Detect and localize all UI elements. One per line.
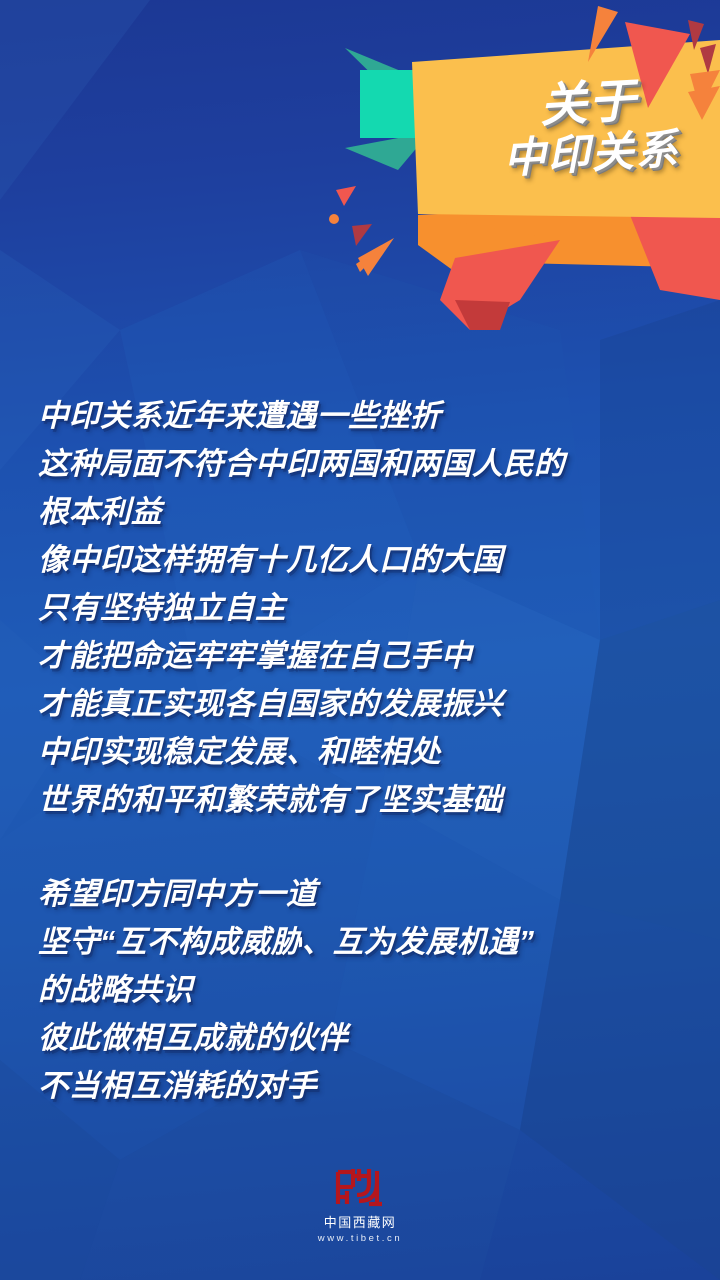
copy-line: 才能把命运牢牢掌握在自己手中	[38, 632, 698, 680]
copy-line: 才能真正实现各自国家的发展振兴	[38, 680, 698, 728]
copy-line: 中印关系近年来遭遇一些挫折	[38, 392, 698, 440]
tibet-seal-logo-icon	[333, 1167, 387, 1209]
confetti-orange-dot	[329, 214, 339, 224]
copy-line: 像中印这样拥有十几亿人口的大国	[38, 536, 698, 584]
copy-line: 这种局面不符合中印两国和两国人民的	[38, 440, 698, 488]
copy-line: 不当相互消耗的对手	[38, 1062, 698, 1110]
banner-yellow-panel	[412, 40, 720, 218]
footer-site-name: 中国西藏网	[0, 1212, 720, 1231]
footer-site-url: www.tibet.cn	[0, 1233, 720, 1244]
copy-line: 世界的和平和繁荣就有了坚实基础	[38, 776, 698, 824]
footer: 中国西藏网 www.tibet.cn	[0, 1167, 720, 1244]
body-copy: 中印关系近年来遭遇一些挫折 这种局面不符合中印两国和两国人民的 根本利益 像中印…	[38, 392, 698, 1110]
copy-line: 坚守“互不构成威胁、互为发展机遇”	[38, 918, 698, 966]
header-banner-graphic	[0, 0, 720, 330]
confetti-orange-tri-5	[358, 238, 394, 276]
confetti-coral-tri-2	[336, 186, 356, 206]
confetti-darkred-tri-3	[352, 224, 372, 246]
copy-line: 中印实现稳定发展、和睦相处	[38, 728, 698, 776]
paragraph-1: 中印关系近年来遭遇一些挫折 这种局面不符合中印两国和两国人民的 根本利益 像中印…	[38, 392, 698, 824]
copy-line: 的战略共识	[38, 966, 698, 1014]
paragraph-2: 希望印方同中方一道 坚守“互不构成威胁、互为发展机遇” 的战略共识 彼此做相互成…	[38, 870, 698, 1110]
copy-line: 希望印方同中方一道	[38, 870, 698, 918]
copy-line: 根本利益	[38, 488, 698, 536]
poster-canvas: 关于 中印关系 中印关系近年来遭遇一些挫折 这种局面不符合中印两国和两国人民的 …	[0, 0, 720, 1280]
copy-line: 只有坚持独立自主	[38, 584, 698, 632]
copy-line: 彼此做相互成就的伙伴	[38, 1014, 698, 1062]
ribbon-darkred-shadow	[455, 300, 510, 330]
